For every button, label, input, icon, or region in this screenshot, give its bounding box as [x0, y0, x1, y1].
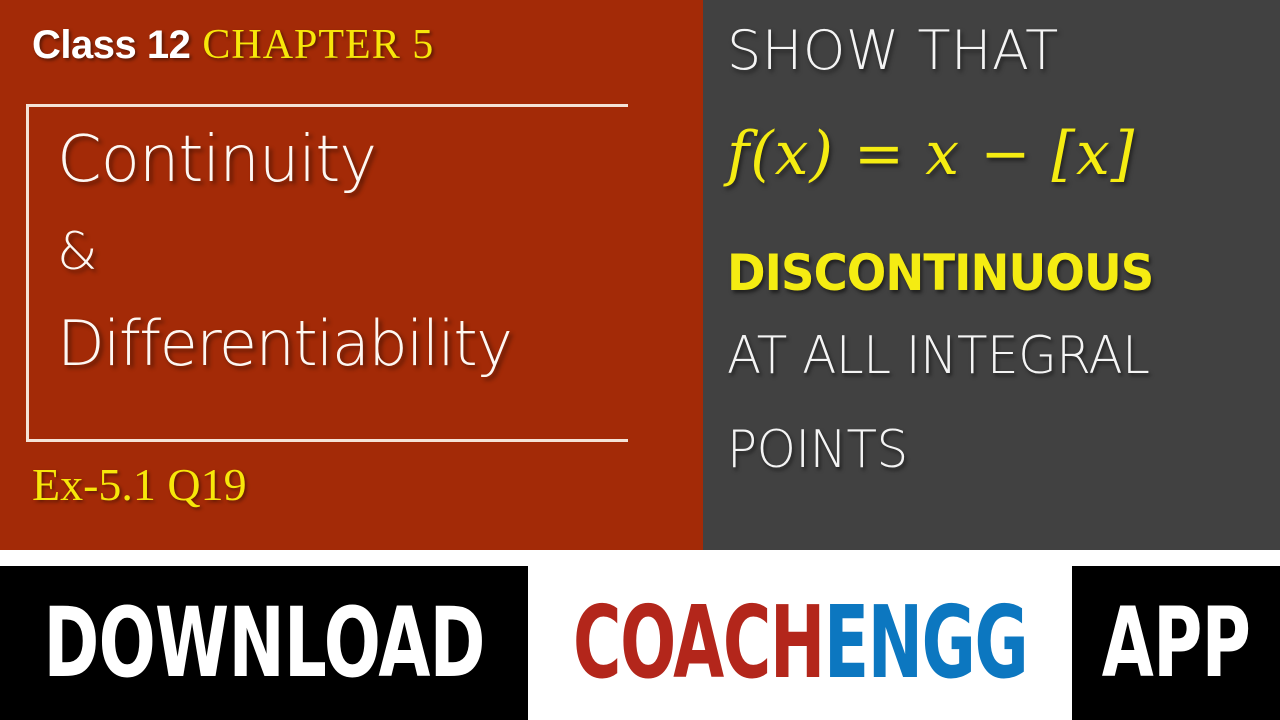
brand-logo-block[interactable]: COACHENGG [528, 566, 1072, 720]
coachengg-wordmark: COACHENGG [573, 593, 1027, 693]
download-label: DOWNLOAD [43, 595, 484, 691]
slide-canvas: Class 12CHAPTER 5 Continuity & Different… [0, 0, 1280, 720]
app-label: APP [1102, 595, 1250, 691]
download-app-banner: DOWNLOAD COACHENGG APP [0, 550, 1280, 720]
condition-line-2: POINTS [727, 424, 908, 476]
exercise-question-label: Ex-5.1 Q19 [32, 462, 247, 508]
condition-line-1: AT ALL INTEGRAL [727, 330, 1149, 382]
left-red-panel: Class 12CHAPTER 5 Continuity & Different… [0, 0, 703, 550]
brand-engg-text: ENGG [824, 584, 1027, 701]
topic-line-ampersand: & [57, 208, 647, 296]
chapter-label: CHAPTER 5 [202, 22, 434, 68]
topic-line-differentiability: Differentiability [57, 296, 647, 391]
app-block[interactable]: APP [1072, 566, 1280, 720]
discontinuous-emphasis: DISCONTINUOUS [727, 248, 1153, 298]
topic-title-lines: Continuity & Differentiability [57, 113, 647, 391]
download-block[interactable]: DOWNLOAD [0, 566, 528, 720]
right-dark-panel: SHOW THAT f(x) = x − [x] DISCONTINUOUS A… [703, 0, 1280, 550]
brand-coach-text: COACH [573, 584, 824, 701]
function-formula: f(x) = x − [x] [727, 124, 1135, 184]
class-label: Class 12 [32, 23, 190, 67]
topic-line-continuity: Continuity [57, 113, 647, 208]
class-chapter-heading: Class 12CHAPTER 5 [32, 24, 434, 66]
show-that-text: SHOW THAT [727, 24, 1059, 78]
topic-title-box: Continuity & Differentiability [26, 104, 628, 442]
content-area: Class 12CHAPTER 5 Continuity & Different… [0, 0, 1280, 550]
